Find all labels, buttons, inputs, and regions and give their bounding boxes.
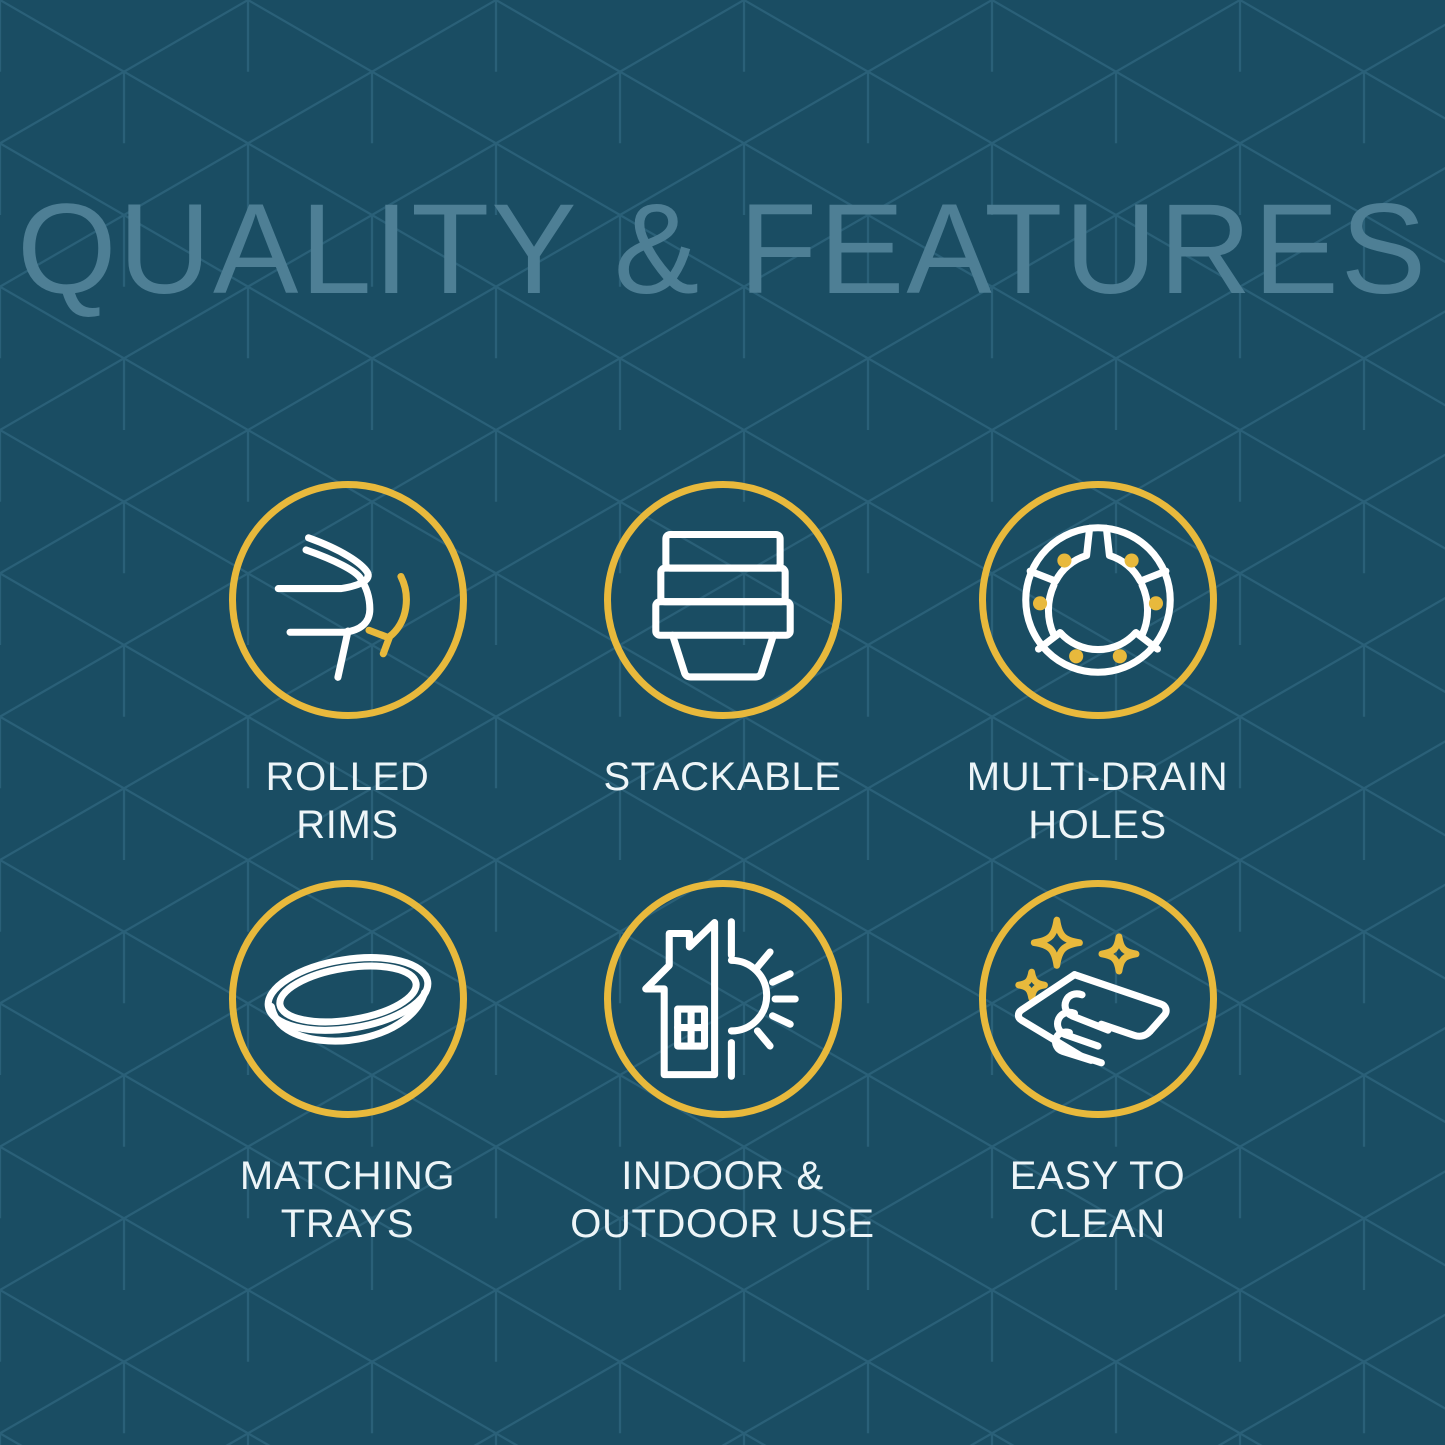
feature-label: ROLLED RIMS	[266, 753, 430, 849]
wiping-hand-sparkle-icon	[1014, 915, 1182, 1083]
feature-label: INDOOR & OUTDOOR USE	[570, 1152, 874, 1248]
house-sun-icon	[639, 915, 807, 1083]
feature-label: MATCHING TRAYS	[240, 1152, 455, 1248]
rolled-rims-icon-badge	[229, 481, 467, 719]
stackable-icon-badge	[604, 481, 842, 719]
rolled-rim-icon	[264, 516, 432, 684]
page-title: QUALITY & FEATURES	[0, 186, 1445, 314]
feature-label: STACKABLE	[603, 753, 841, 801]
feature-item-easy-to-clean[interactable]: EASY TO CLEAN	[910, 880, 1285, 1279]
indoor-outdoor-icon-badge	[604, 880, 842, 1118]
multi-drain-holes-icon-badge	[979, 481, 1217, 719]
saucer-tray-icon	[264, 915, 432, 1083]
feature-item-multi-drain-holes[interactable]: MULTI-DRAIN HOLES	[910, 481, 1285, 880]
easy-to-clean-icon-badge	[979, 880, 1217, 1118]
feature-item-stackable[interactable]: STACKABLE	[535, 481, 910, 880]
feature-item-rolled-rims[interactable]: ROLLED RIMS	[160, 481, 535, 880]
stacked-pots-icon	[639, 516, 807, 684]
feature-label: MULTI-DRAIN HOLES	[967, 753, 1228, 849]
infographic-canvas: QUALITY & FEATURES ROLLED RIMS	[0, 0, 1445, 1445]
drain-holes-icon	[1014, 516, 1182, 684]
matching-trays-icon-badge	[229, 880, 467, 1118]
feature-item-indoor-outdoor-use[interactable]: INDOOR & OUTDOOR USE	[535, 880, 910, 1279]
feature-label: EASY TO CLEAN	[1010, 1152, 1185, 1248]
feature-grid: ROLLED RIMS STACKABLE	[160, 481, 1285, 1279]
feature-item-matching-trays[interactable]: MATCHING TRAYS	[160, 880, 535, 1279]
